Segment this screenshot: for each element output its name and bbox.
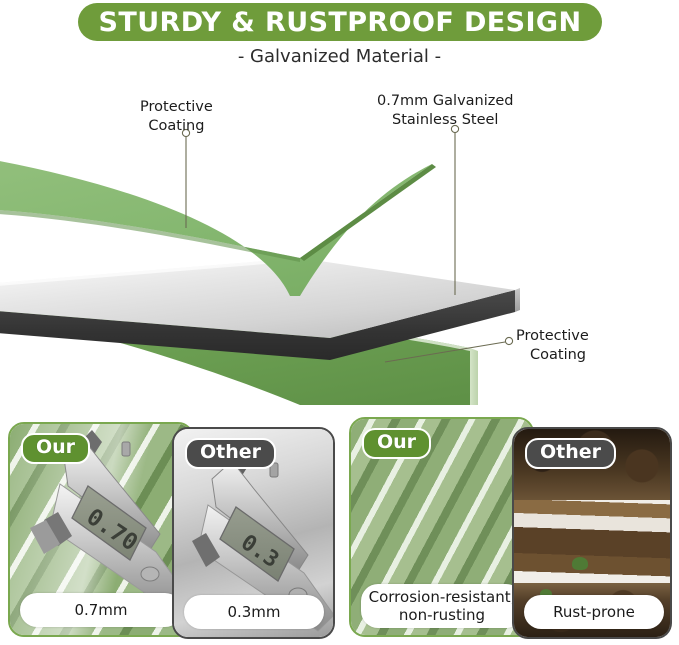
caption-line-1: Corrosion-resistant,	[369, 588, 516, 606]
caption-our-thickness: 0.7mm	[20, 593, 182, 627]
comparison-section: 0.70 Our 0.7mm	[0, 405, 679, 645]
header: STURDY & RUSTPROOF DESIGN - Galvanized M…	[0, 0, 679, 80]
badge-our: Our	[362, 428, 431, 459]
caption-other-thickness: 0.3mm	[184, 595, 324, 629]
caption-line-2: non-rusting	[369, 606, 516, 624]
caption-our-corrosion: Corrosion-resistant, non-rusting	[361, 584, 523, 628]
badge-our: Our	[21, 433, 90, 464]
page-title: STURDY & RUSTPROOF DESIGN	[99, 7, 582, 38]
callout-line-2: Stainless Steel	[377, 111, 514, 130]
badge-other: Other	[185, 438, 276, 469]
panel-our-thickness: 0.70 Our 0.7mm	[8, 422, 194, 637]
callout-line-1: 0.7mm Galvanized	[377, 92, 514, 111]
comparison-group-corrosion: Our Corrosion-resistant, non-rusting	[340, 405, 679, 645]
callout-top-protective-coating: Protective Coating	[140, 98, 213, 135]
callout-galvanized-steel: 0.7mm Galvanized Stainless Steel	[377, 92, 514, 129]
infographic-page: STURDY & RUSTPROOF DESIGN - Galvanized M…	[0, 0, 679, 645]
panel-other-thickness: 0.3 Other 0.3mm	[172, 427, 335, 639]
title-banner: STURDY & RUSTPROOF DESIGN	[78, 3, 602, 41]
panel-other-corrosion: Other Rust-prone	[512, 427, 672, 639]
page-subtitle: - Galvanized Material -	[0, 46, 679, 67]
comparison-group-thickness: 0.70 Our 0.7mm	[0, 405, 339, 645]
plant-sprout-icon	[572, 557, 588, 570]
callout-line-2: Coating	[516, 346, 589, 365]
caption-other-corrosion: Rust-prone	[524, 595, 664, 629]
circle-marker-icon	[505, 337, 512, 344]
callout-line-1: Protective	[140, 98, 213, 117]
panel-our-corrosion: Our Corrosion-resistant, non-rusting	[349, 417, 534, 637]
callout-bottom-protective-coating: Protective Coating	[516, 327, 589, 364]
callout-line-2: Coating	[140, 117, 213, 136]
layer-diagram: Protective Coating 0.7mm Galvanized Stai…	[0, 80, 679, 405]
callout-line-1: Protective	[516, 327, 589, 346]
badge-other: Other	[525, 438, 616, 469]
